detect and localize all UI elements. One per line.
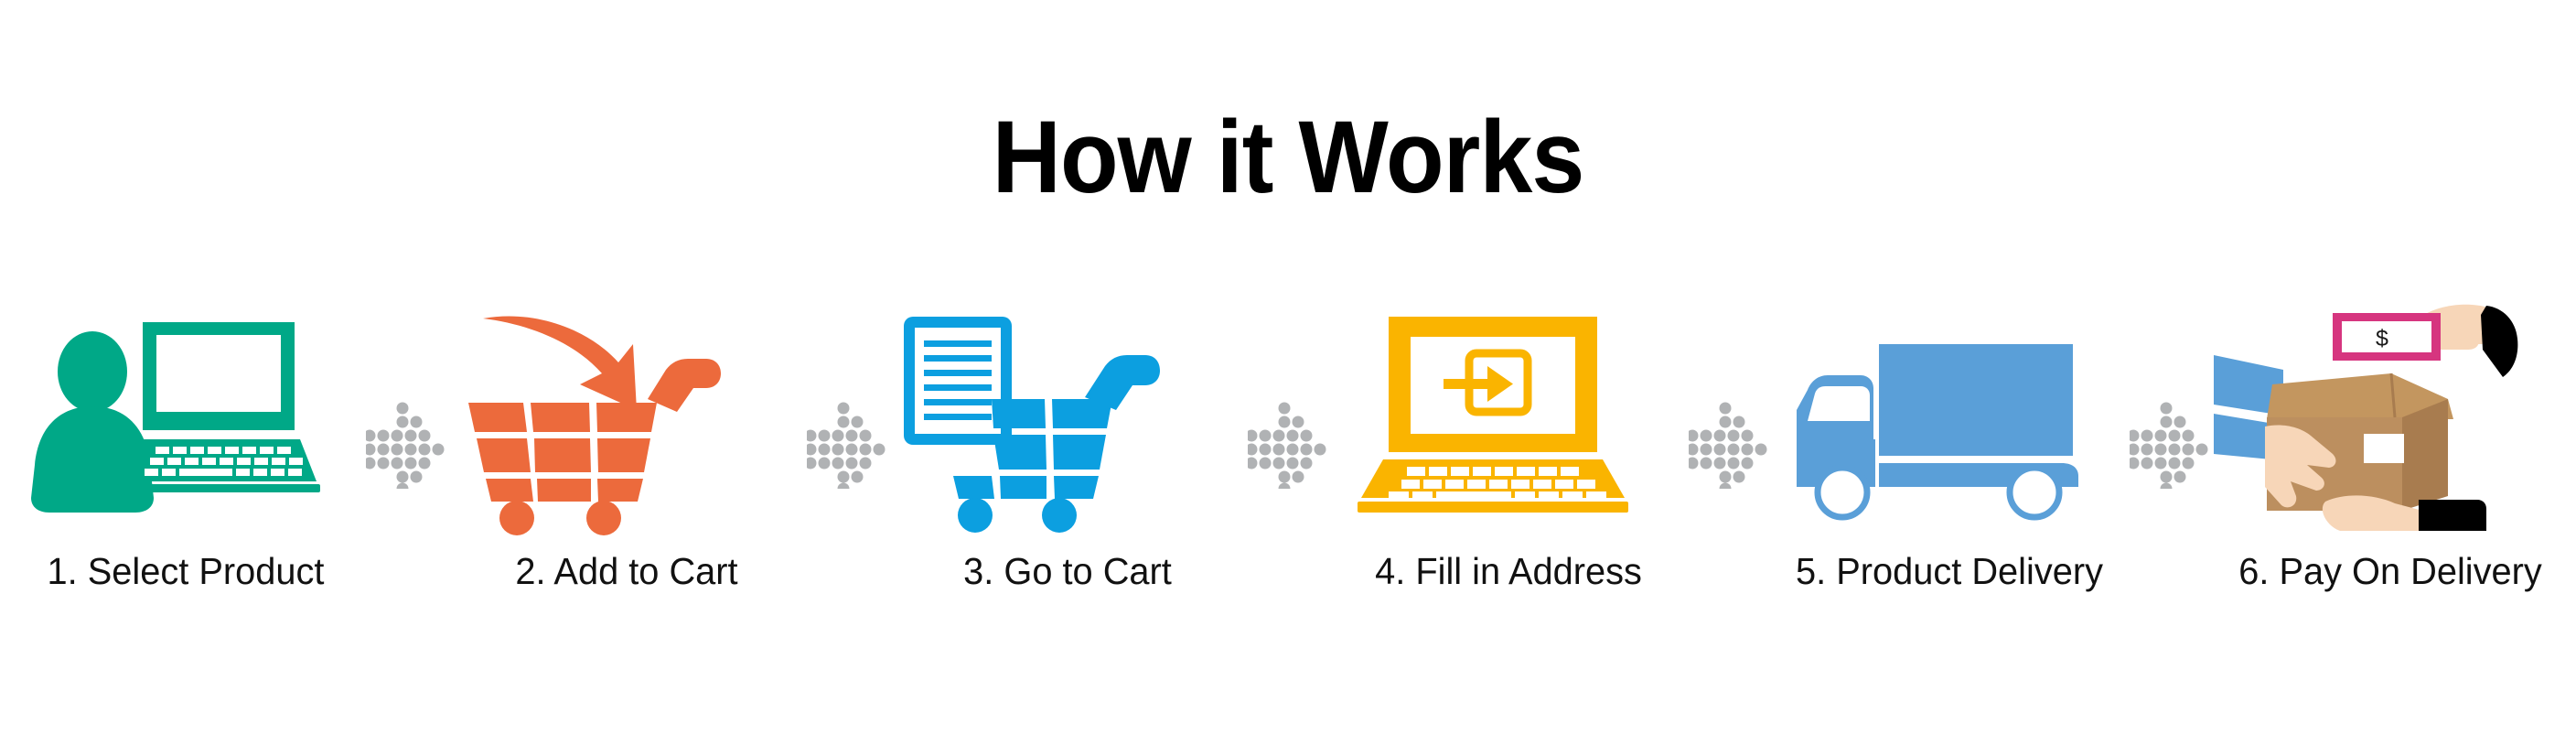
separator-2 xyxy=(805,302,889,650)
person-at-laptop-icon xyxy=(7,302,364,531)
step-3-go-to-cart[interactable]: 3. Go to Cart xyxy=(889,302,1246,650)
steps-row: 1. Select Product xyxy=(0,302,2576,650)
separator-3 xyxy=(1246,302,1330,650)
money-symbol: $ xyxy=(2376,326,2388,351)
step-5-label: 5. Product Delivery xyxy=(1776,551,2122,591)
step-4-fill-in-address[interactable]: 4. Fill in Address xyxy=(1330,302,1687,650)
step-5-product-delivery[interactable]: 5. Product Delivery xyxy=(1771,302,2128,650)
step-6-pay-on-delivery[interactable]: $ xyxy=(2212,302,2569,650)
step-6-label: 6. Pay On Delivery xyxy=(2217,551,2563,591)
infographic-page: How it Works xyxy=(0,0,2576,745)
separator-4 xyxy=(1687,302,1771,650)
page-title: How it Works xyxy=(91,106,2486,209)
separator-5 xyxy=(2128,302,2212,650)
step-1-label: 1. Select Product xyxy=(13,551,359,591)
money-note: $ xyxy=(2333,313,2441,361)
document-and-cart-icon xyxy=(889,302,1246,531)
pay-on-delivery-icon: $ xyxy=(2212,302,2569,531)
step-4-label: 4. Fill in Address xyxy=(1336,551,1681,591)
step-2-add-to-cart[interactable]: 2. Add to Cart xyxy=(448,302,805,650)
shopping-cart-with-arrow-icon xyxy=(448,302,805,531)
step-3-label: 3. Go to Cart xyxy=(895,551,1240,591)
separator-1 xyxy=(364,302,448,650)
laptop-form-entry-icon xyxy=(1330,302,1687,531)
step-2-label: 2. Add to Cart xyxy=(454,551,800,591)
delivery-truck-icon xyxy=(1771,302,2128,531)
step-1-select-product[interactable]: 1. Select Product xyxy=(7,302,364,650)
